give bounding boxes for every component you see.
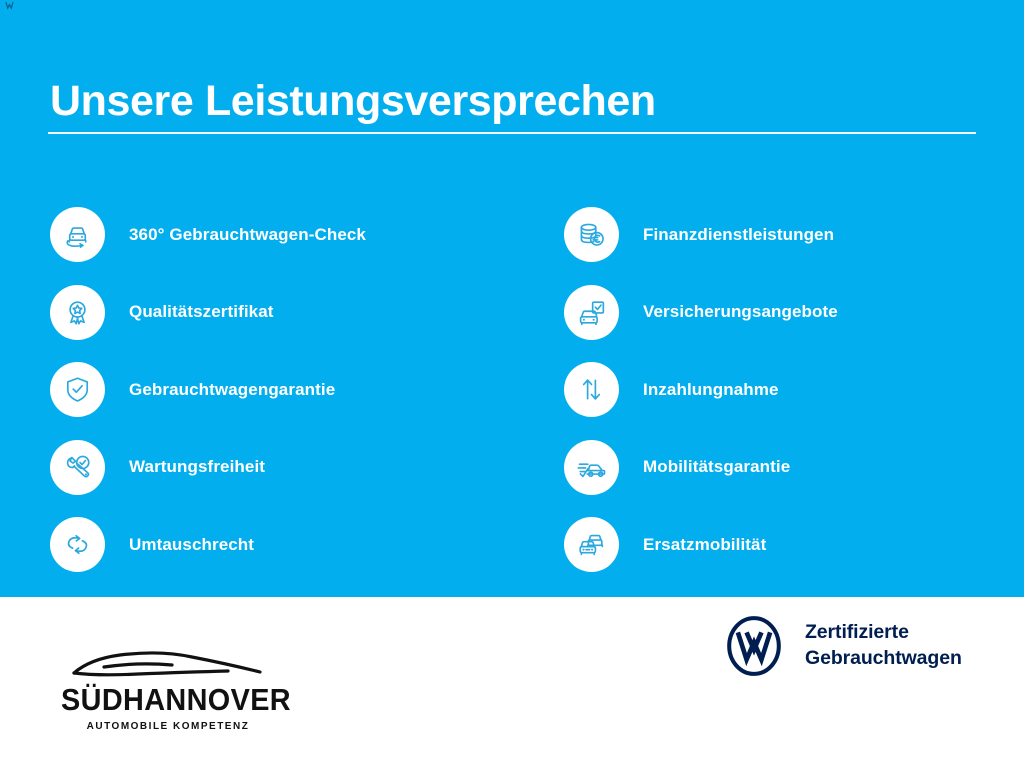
feature-column-right: Finanzdienstleistungen bbox=[512, 196, 1024, 584]
feature-item[interactable]: Inzahlungnahme bbox=[564, 351, 1024, 429]
feature-label: Umtauschrecht bbox=[129, 535, 254, 555]
shield-check-icon bbox=[50, 362, 105, 417]
feature-label: Mobilitätsgarantie bbox=[643, 457, 790, 477]
vw-logo-line2: Gebrauchtwagen bbox=[805, 646, 962, 672]
feature-columns: 360° Gebrauchtwagen-Check Qualitätszerti… bbox=[0, 196, 1024, 584]
feature-item[interactable]: Umtauschrecht bbox=[50, 506, 512, 584]
feature-item[interactable]: Mobilitätsgarantie bbox=[564, 429, 1024, 507]
dealer-logo[interactable]: SÜDHANNOVER AUTOMOBILE KOMPETENZ bbox=[53, 649, 283, 732]
vw-logo-line1: Zertifizierte bbox=[805, 620, 962, 646]
feature-label: Gebrauchtwagengarantie bbox=[129, 380, 335, 400]
arrows-up-down-icon bbox=[564, 362, 619, 417]
volkswagen-logo-icon bbox=[723, 615, 785, 677]
slide-root: Unsere Leistungsversprechen bbox=[0, 0, 1024, 768]
feature-label: Inzahlungnahme bbox=[643, 380, 779, 400]
dealer-tagline: AUTOMOBILE KOMPETENZ bbox=[59, 720, 278, 732]
feature-item[interactable]: Qualitätszertifikat bbox=[50, 274, 512, 352]
feature-item[interactable]: Finanzdienstleistungen bbox=[564, 196, 1024, 274]
corner-artifact-icon bbox=[5, 1, 14, 10]
feature-item[interactable]: Versicherungsangebote bbox=[564, 274, 1024, 352]
exchange-arrows-icon bbox=[50, 517, 105, 572]
feature-label: Ersatzmobilität bbox=[643, 535, 766, 555]
feature-item[interactable]: Wartungsfreiheit bbox=[50, 429, 512, 507]
car-silhouette-icon bbox=[68, 649, 268, 683]
wrench-check-icon bbox=[50, 440, 105, 495]
feature-item[interactable]: Ersatzmobilität bbox=[564, 506, 1024, 584]
feature-item[interactable]: 360° Gebrauchtwagen-Check bbox=[50, 196, 512, 274]
two-cars-icon bbox=[564, 517, 619, 572]
feature-label: Finanzdienstleistungen bbox=[643, 225, 834, 245]
feature-label: Qualitätszertifikat bbox=[129, 302, 274, 322]
feature-item[interactable]: Gebrauchtwagengarantie bbox=[50, 351, 512, 429]
feature-label: Versicherungsangebote bbox=[643, 302, 838, 322]
feature-column-left: 360° Gebrauchtwagen-Check Qualitätszerti… bbox=[0, 196, 512, 584]
footer-bar: SÜDHANNOVER AUTOMOBILE KOMPETENZ Zertifi… bbox=[0, 597, 1024, 768]
coins-euro-icon bbox=[564, 207, 619, 262]
award-rosette-icon bbox=[50, 285, 105, 340]
car-document-check-icon bbox=[564, 285, 619, 340]
dealer-name: SÜDHANNOVER bbox=[61, 684, 275, 715]
page-title: Unsere Leistungsversprechen bbox=[50, 79, 656, 124]
vw-logo-text: Zertifizierte Gebrauchtwagen bbox=[805, 620, 962, 671]
feature-label: Wartungsfreiheit bbox=[129, 457, 265, 477]
car-360-rotate-icon bbox=[50, 207, 105, 262]
car-speed-check-icon bbox=[564, 440, 619, 495]
vw-certified-logo[interactable]: Zertifizierte Gebrauchtwagen bbox=[723, 615, 962, 677]
feature-label: 360° Gebrauchtwagen-Check bbox=[129, 225, 366, 245]
title-divider bbox=[48, 132, 976, 134]
hero-panel: Unsere Leistungsversprechen bbox=[0, 0, 1024, 597]
